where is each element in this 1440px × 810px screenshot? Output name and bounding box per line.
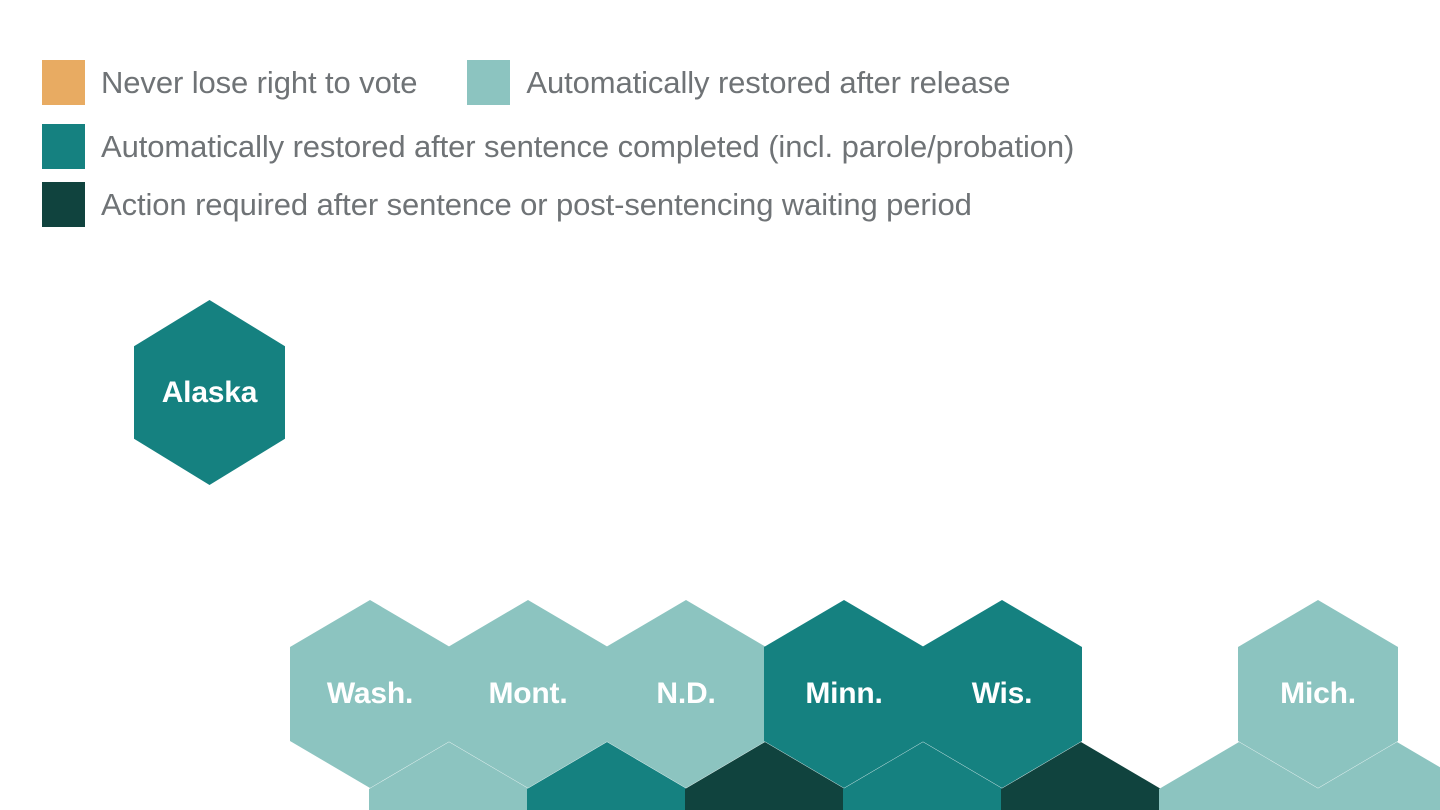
hex-label: Mont. — [489, 679, 568, 709]
hex-label: Alaska — [162, 378, 258, 408]
hex-alaska[interactable]: Alaska — [134, 300, 285, 485]
hex-map: Wash.Mont.N.D.Minn.Wis.Mich.Alaska — [0, 0, 1440, 810]
hex-label: N.D. — [656, 679, 715, 709]
hex-label: Minn. — [805, 679, 882, 709]
hex-label: Wis. — [972, 679, 1033, 709]
hex-label: Mich. — [1280, 679, 1356, 709]
hex-label: Wash. — [327, 679, 413, 709]
hex-map-figure: Never lose right to vote Automatically r… — [0, 0, 1440, 810]
